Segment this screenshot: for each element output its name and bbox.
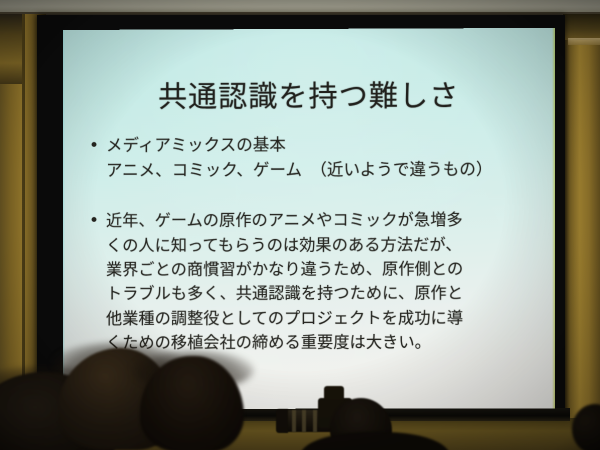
wall-left-seam [22, 14, 25, 450]
ceiling [0, 0, 600, 15]
bullet-line: メディアミックスの基本 [106, 132, 543, 158]
bullet-marker-icon: • [89, 134, 106, 159]
wall-below-screen [0, 418, 600, 450]
projected-slide: 共通認識を持つ難しさ • メディアミックスの基本 アニメ、コミック、ゲーム （近… [63, 28, 555, 409]
wall-right [563, 14, 600, 450]
wall-left-panel [0, 14, 22, 84]
bullet-item: • 近年、ゲームの原作のアニメやコミックが急増多 くの人に知ってもらうのは効果の… [89, 208, 543, 356]
bullet-line: くの人に知ってもらうのは効果のある方法だが、 [106, 232, 543, 258]
screen-bottom-rail [30, 408, 570, 421]
slide-bullet-list: • メディアミックスの基本 アニメ、コミック、ゲーム （近いようで違うもの） •… [89, 132, 543, 355]
bullet-marker-icon: • [89, 209, 106, 234]
bullet-line: くための移植会社の締める重要度は大きい。 [106, 330, 543, 355]
presentation-photo: 共通認識を持つ難しさ • メディアミックスの基本 アニメ、コミック、ゲーム （近… [0, 0, 600, 450]
bullet-line: 近年、ゲームの原作のアニメやコミックが急増多 [106, 208, 543, 234]
slide-title: 共通認識を持つ難しさ [63, 72, 555, 116]
wall-right-upper-panel [563, 14, 600, 40]
bullet-line: 他業種の調整役としてのプロジェクトを成功に導 [106, 306, 543, 331]
bullet-text-block: 近年、ゲームの原作のアニメやコミックが急増多 くの人に知ってもらうのは効果のある… [106, 208, 543, 356]
bullet-line: アニメ、コミック、ゲーム （近いようで違うもの） [106, 157, 543, 183]
slide-content: 共通認識を持つ難しさ • メディアミックスの基本 アニメ、コミック、ゲーム （近… [63, 28, 555, 409]
bullet-text-block: メディアミックスの基本 アニメ、コミック、ゲーム （近いようで違うもの） [106, 132, 543, 183]
wall-right-trim [568, 38, 600, 45]
bullet-line: トラブルも多く、共通認識を持つために、原作と [106, 281, 543, 306]
bullet-item: • メディアミックスの基本 アニメ、コミック、ゲーム （近いようで違うもの） [89, 132, 543, 183]
bullet-line: 業界ごとの商慣習がかなり違うため、原作側との [106, 257, 543, 282]
